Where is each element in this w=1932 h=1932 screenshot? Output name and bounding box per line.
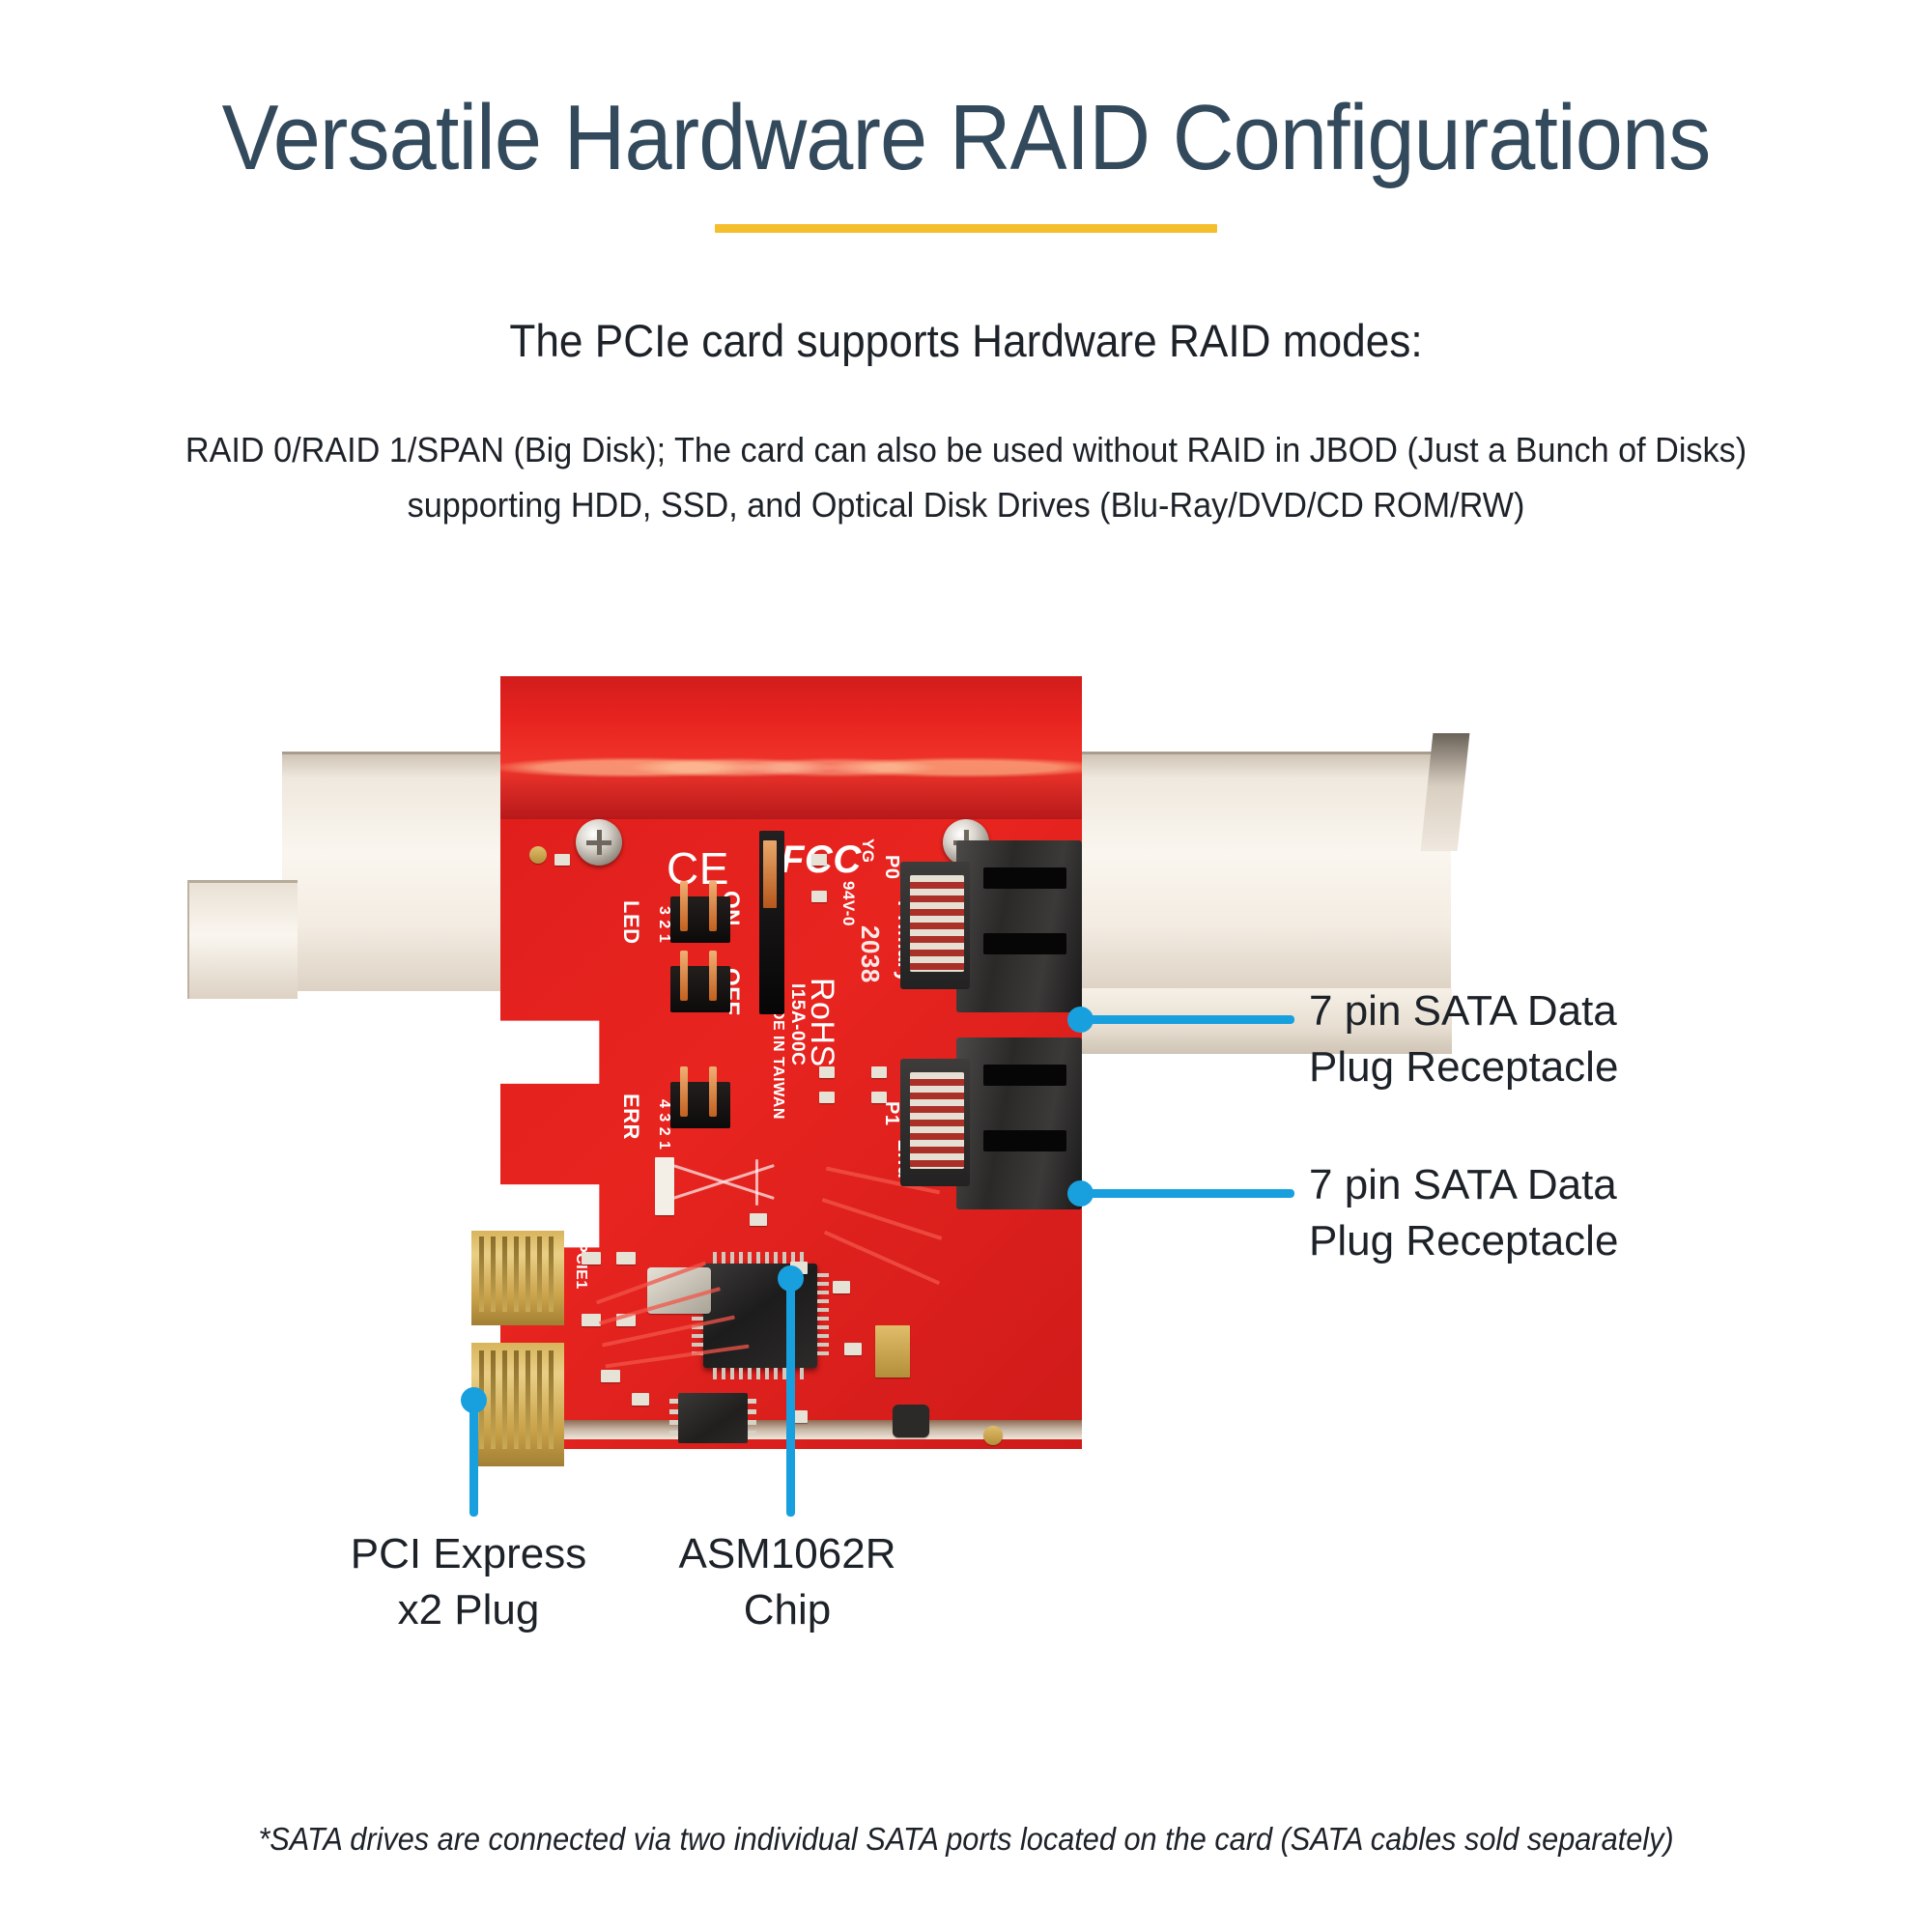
silkscreen-warning-symbol — [670, 1151, 777, 1211]
silkscreen-pcie-label: PCIE1 — [572, 1242, 589, 1290]
callout-sata-top: 7 pin SATA Data Plug Receptacle — [1309, 983, 1618, 1095]
smd-inductor-1 — [875, 1325, 910, 1378]
callout-asm-chip: ASM1062R Chip — [642, 1526, 932, 1638]
silkscreen-port-0: P0 — [880, 855, 902, 879]
smd-passive — [844, 1343, 862, 1355]
description-line-2: supporting HDD, SSD, and Optical Disk Dr… — [177, 478, 1755, 533]
leader-line-sata-bottom — [1080, 1189, 1294, 1198]
callout-asm-chip-line-2: Chip — [642, 1582, 932, 1638]
bracket-tab — [187, 880, 298, 999]
mounting-screw-left — [576, 819, 622, 866]
silkscreen-led-header: LED — [618, 900, 643, 945]
smd-passive — [582, 1314, 601, 1326]
callout-pcie-plug: PCI Express x2 Plug — [319, 1526, 618, 1638]
pcb-test-pad — [529, 846, 547, 864]
subtitle: The PCIe card supports Hardware RAID mod… — [58, 314, 1874, 367]
smd-mosfet — [893, 1405, 929, 1437]
smd-test-pad-2 — [983, 1426, 1003, 1445]
smd-passive — [582, 1252, 601, 1264]
led-jumper-header — [670, 896, 730, 943]
callout-pcie-plug-line-2: x2 Plug — [319, 1582, 618, 1638]
pcb-upper-edge — [500, 676, 1082, 821]
led-jumper-header-2 — [670, 966, 730, 1012]
title-underline-rule — [715, 224, 1217, 233]
smd-passive — [811, 891, 827, 902]
sata-port-primary — [900, 840, 1082, 1012]
smd-passive — [811, 854, 827, 866]
footnote-disclaimer: *SATA drives are connected via two indiv… — [68, 1821, 1864, 1858]
silkscreen-date-code: 2038 — [855, 925, 885, 983]
white-connector-block — [655, 1157, 674, 1215]
leader-line-asm-chip — [786, 1279, 795, 1517]
rohs-mark: RoHS — [803, 978, 840, 1067]
callout-asm-chip-line-1: ASM1062R — [642, 1526, 932, 1582]
product-diagram-page: Versatile Hardware RAID Configurations T… — [0, 0, 1932, 1932]
smd-passive — [554, 854, 570, 866]
callout-sata-top-line-2: Plug Receptacle — [1309, 1039, 1618, 1095]
smd-passive — [819, 1092, 835, 1103]
smd-passive — [871, 1092, 887, 1103]
silkscreen-ul-logo: YG — [858, 838, 877, 864]
pcie-card-illustration: CE FCC YG 94V-0 2038 P0 Primary P1 2nd R… — [270, 676, 1488, 1449]
description-paragraph: RAID 0/RAID 1/SPAN (Big Disk); The card … — [177, 423, 1755, 533]
callout-sata-bottom-line-1: 7 pin SATA Data — [1309, 1157, 1618, 1213]
smd-passive — [819, 1066, 835, 1078]
callout-sata-bottom: 7 pin SATA Data Plug Receptacle — [1309, 1157, 1618, 1269]
callout-pcie-plug-line-1: PCI Express — [319, 1526, 618, 1582]
silkscreen-ul-rating: 94V-0 — [838, 881, 858, 926]
description-line-1: RAID 0/RAID 1/SPAN (Big Disk); The card … — [177, 423, 1755, 478]
silkscreen-model: I15A-00C — [786, 983, 808, 1065]
bracket-hook — [1421, 733, 1470, 851]
leader-line-sata-top — [1080, 1015, 1294, 1024]
page-title: Versatile Hardware RAID Configurations — [77, 85, 1855, 191]
silkscreen-err-header: ERR — [618, 1094, 643, 1140]
pcie-edge-fingers-upper — [471, 1231, 564, 1325]
leader-line-pcie-plug — [469, 1401, 478, 1517]
callout-sata-top-line-1: 7 pin SATA Data — [1309, 983, 1618, 1039]
sata-port-secondary — [900, 1037, 1082, 1209]
ce-mark: CE — [667, 842, 729, 895]
callout-sata-bottom-line-2: Plug Receptacle — [1309, 1213, 1618, 1269]
smd-passive — [601, 1370, 620, 1382]
dip-switch — [759, 831, 784, 1014]
silkscreen-port-1: P1 — [880, 1101, 902, 1125]
smd-passive — [632, 1393, 649, 1406]
smd-passive — [833, 1281, 850, 1293]
smd-passive — [871, 1066, 887, 1078]
smd-passive — [750, 1213, 767, 1226]
smd-passive — [616, 1252, 636, 1264]
err-jumper-header — [670, 1082, 730, 1128]
flash-memory-chip — [678, 1393, 748, 1443]
